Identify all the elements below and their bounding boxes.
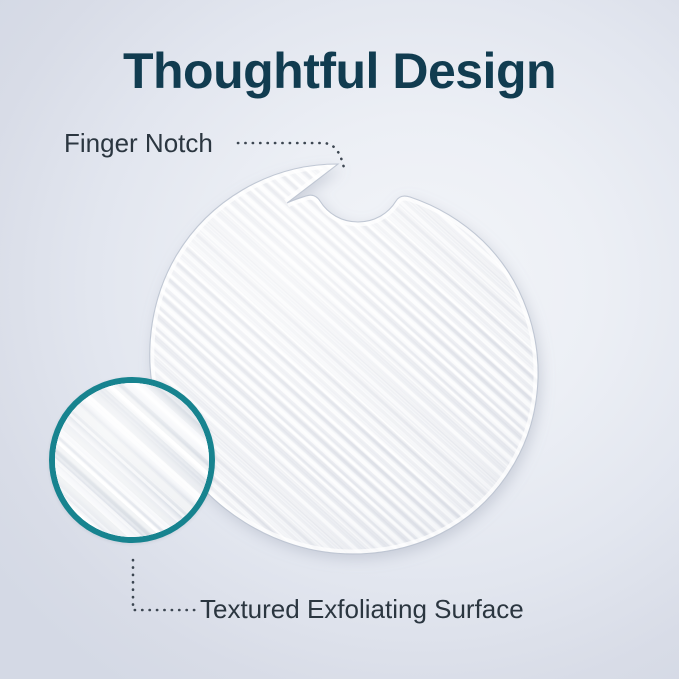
infographic-canvas: Thoughtful Design <box>0 0 679 679</box>
zoom-detail-content <box>49 377 215 543</box>
pad-texture <box>86 100 606 620</box>
leader-line-textured-surface <box>133 560 196 610</box>
zoom-detail-circle <box>49 377 215 543</box>
page-title: Thoughtful Design <box>0 42 679 100</box>
callout-label-textured-surface: Textured Exfoliating Surface <box>200 594 524 625</box>
callout-label-finger-notch: Finger Notch <box>64 128 213 159</box>
